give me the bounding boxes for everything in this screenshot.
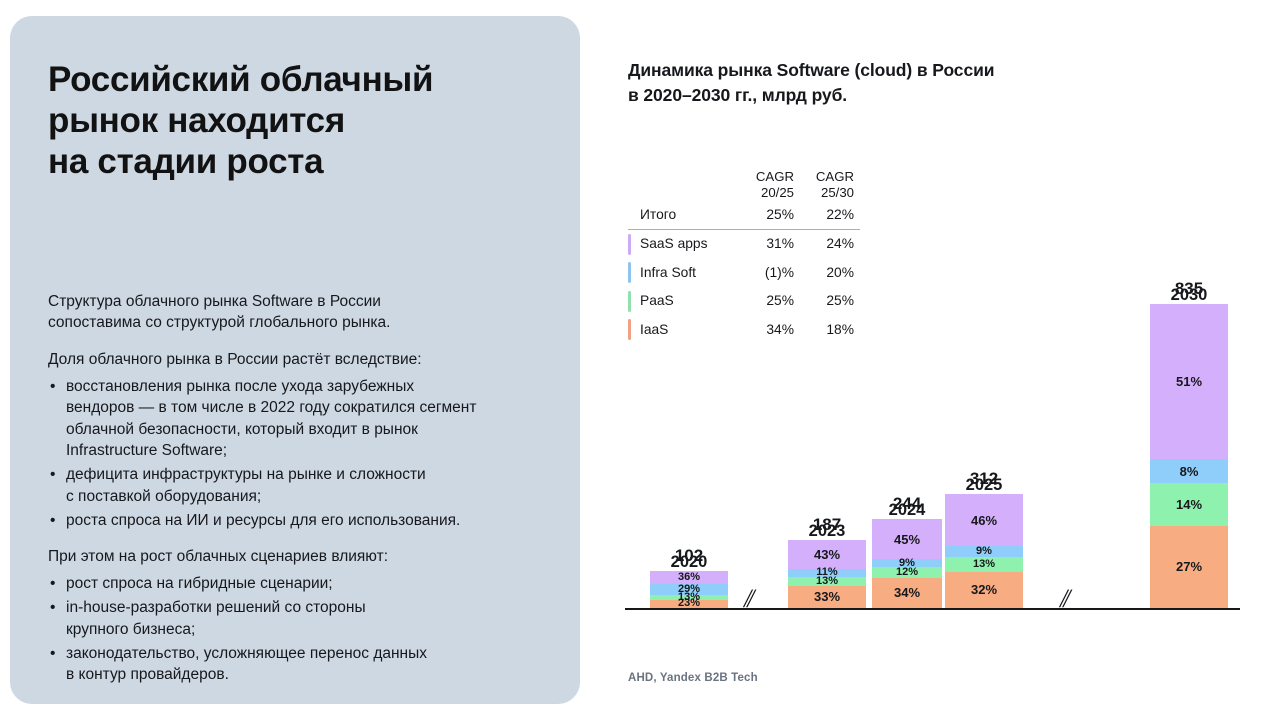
cagr-header-col-2530: CAGR 25/30 xyxy=(794,169,854,200)
cagr-row-label: Итого xyxy=(628,207,734,222)
cagr-row-label: SaaS apps xyxy=(628,236,734,251)
cagr-row-saas: SaaS apps 31% 24% xyxy=(628,230,860,259)
bar-group-2030: 83551%8%14%27%2030 xyxy=(1150,278,1228,608)
bullet-icon: • xyxy=(50,376,55,397)
chart-panel: Динамика рынка Software (cloud) в России… xyxy=(600,0,1280,720)
bullet-icon: • xyxy=(50,573,55,594)
x-axis-label-2023: 2023 xyxy=(788,522,866,640)
cagr-row-value-2025: 25% xyxy=(734,207,794,222)
cagr-row-total: Итого 25% 22% xyxy=(628,200,860,229)
x-axis-label-2024: 2024 xyxy=(872,501,942,640)
source-note: AHD, Yandex B2B Tech xyxy=(628,672,758,684)
bullet-icon: • xyxy=(50,597,55,618)
bar-group-2020: 10236%29%13%23%2020 xyxy=(650,545,728,608)
bullet-icon: • xyxy=(50,464,55,485)
list-item-text: роста спроса на ИИ и ресурсы для его исп… xyxy=(66,512,460,529)
bar-group-2023: 18743%11%13%33%2023 xyxy=(788,514,866,608)
stacked-bar-chart: 10236%29%13%23%202018743%11%13%33%202324… xyxy=(620,260,1260,610)
left-info-card: Российский облачный рынок находится на с… xyxy=(10,16,580,704)
list-item-text: in-house-разработки решений со стороны к… xyxy=(66,599,366,637)
legend-swatch-saas xyxy=(628,234,631,255)
list-item: •роста спроса на ИИ и ресурсы для его ис… xyxy=(48,510,542,531)
list-item: •дефицита инфраструктуры на рынке и слож… xyxy=(48,464,542,507)
bullet-icon: • xyxy=(50,643,55,664)
cagr-header-col-2025: CAGR 20/25 xyxy=(734,169,794,200)
cagr-row-value-2025: 31% xyxy=(734,236,794,251)
axis-break-icon: // xyxy=(744,584,750,614)
list-item-text: рост спроса на гибридные сценарии; xyxy=(66,575,333,592)
list-item-text: дефицита инфраструктуры на рынке и сложн… xyxy=(66,466,426,504)
list-item: •восстановления рынка после ухода зарубе… xyxy=(48,376,542,462)
cagr-row-value-2530: 22% xyxy=(794,207,854,222)
bar-group-2024: 24445%9%12%34%2024 xyxy=(872,493,942,608)
bar-group-2025: 31246%9%13%32%2025 xyxy=(945,468,1023,608)
page-title: Российский облачный рынок находится на с… xyxy=(48,60,542,183)
growth-reasons-lead: Доля облачного рынка в России растёт всл… xyxy=(48,349,542,370)
list-item: •in-house-разработки решений со стороны … xyxy=(48,597,542,640)
bullet-icon: • xyxy=(50,510,55,531)
list-item-text: восстановления рынка после ухода зарубеж… xyxy=(66,378,476,459)
left-card-body: Структура облачного рынка Software в Рос… xyxy=(48,291,542,686)
chart-title: Динамика рынка Software (cloud) в России… xyxy=(628,58,1098,108)
intro-paragraph: Структура облачного рынка Software в Рос… xyxy=(48,291,542,334)
list-item: •рост спроса на гибридные сценарии; xyxy=(48,573,542,594)
x-axis-label-2020: 2020 xyxy=(650,553,728,640)
x-axis-label-2025: 2025 xyxy=(945,476,1023,640)
cagr-row-value-2530: 24% xyxy=(794,236,854,251)
x-axis-label-2030: 2030 xyxy=(1150,286,1228,640)
growth-reasons-list: •восстановления рынка после ухода зарубе… xyxy=(48,376,542,532)
axis-break-icon: // xyxy=(1060,584,1066,614)
cloud-scenarios-lead: При этом на рост облачных сценариев влия… xyxy=(48,546,542,567)
cloud-scenarios-list: •рост спроса на гибридные сценарии; •in-… xyxy=(48,573,542,686)
list-item: •законодательство, усложняющее перенос д… xyxy=(48,643,542,686)
cagr-table-header: CAGR 20/25 CAGR 25/30 xyxy=(628,162,860,200)
list-item-text: законодательство, усложняющее перенос да… xyxy=(66,645,427,683)
